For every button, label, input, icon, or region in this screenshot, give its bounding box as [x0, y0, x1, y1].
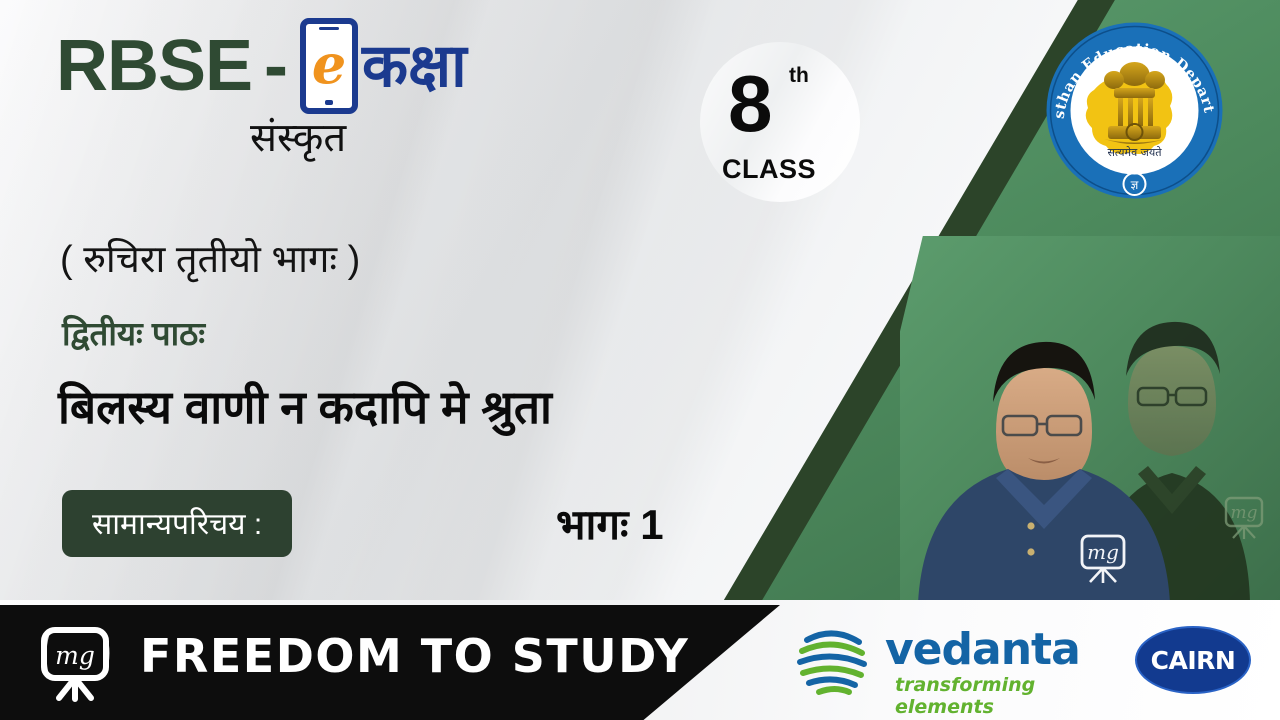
svg-text:ज्ञ: ज्ञ — [1131, 178, 1139, 192]
brand-rbse-text: RBSE — [56, 30, 252, 102]
brand-kaksha-text: कक्षा — [362, 36, 467, 96]
lesson-title: बिलस्य वाणी न कदापि मे श्रुता — [58, 375, 552, 437]
brand-dash: - — [264, 30, 288, 102]
footer-tagline: FREEDOM TO STUDY — [140, 629, 689, 683]
vedanta-tagline: transforming elements — [895, 674, 1125, 718]
class-badge: 8 th CLASS — [700, 42, 860, 202]
lesson-number-label: द्वितीयः पाठः — [62, 310, 205, 355]
thumbnail-canvas: mg — [0, 0, 1280, 720]
smartphone-icon: e — [300, 18, 358, 114]
part-number-label: भागः 1 — [556, 495, 664, 552]
seal-motto: सत्यमेव जयते — [1107, 146, 1162, 159]
rajasthan-education-department-seal: Rajasthan Education Department सत्यमेव ज… — [1042, 18, 1227, 203]
topic-chip: सामान्यपरिचय : — [62, 490, 292, 557]
subject-label: संस्कृत — [250, 108, 346, 163]
brand-logo: RBSE - e कक्षा — [56, 18, 467, 114]
mg-logo-text: mg — [55, 641, 95, 670]
class-ordinal-suffix: th — [789, 64, 809, 88]
brand-e-letter: e — [312, 37, 346, 91]
vedanta-logo: vedanta transforming elements — [795, 618, 1125, 702]
cairn-wordmark: CAIRN — [1151, 646, 1236, 675]
book-part-label: ( रुचिरा तृतीयो भागः ) — [60, 232, 360, 284]
vedanta-leaf-icon — [795, 620, 875, 698]
presenters-illustration: mg — [900, 236, 1280, 603]
cairn-oval-icon: CAIRN — [1135, 626, 1251, 694]
svg-text:mg: mg — [1087, 540, 1119, 564]
presenters-photo: mg — [900, 236, 1280, 603]
class-label: CLASS — [722, 154, 816, 185]
class-number: 8 — [728, 64, 773, 144]
vedanta-wordmark: vedanta — [885, 624, 1080, 675]
mg-logo-icon: mg — [34, 622, 116, 702]
svg-text:mg: mg — [1230, 503, 1257, 523]
cairn-logo: CAIRN — [1135, 626, 1251, 694]
